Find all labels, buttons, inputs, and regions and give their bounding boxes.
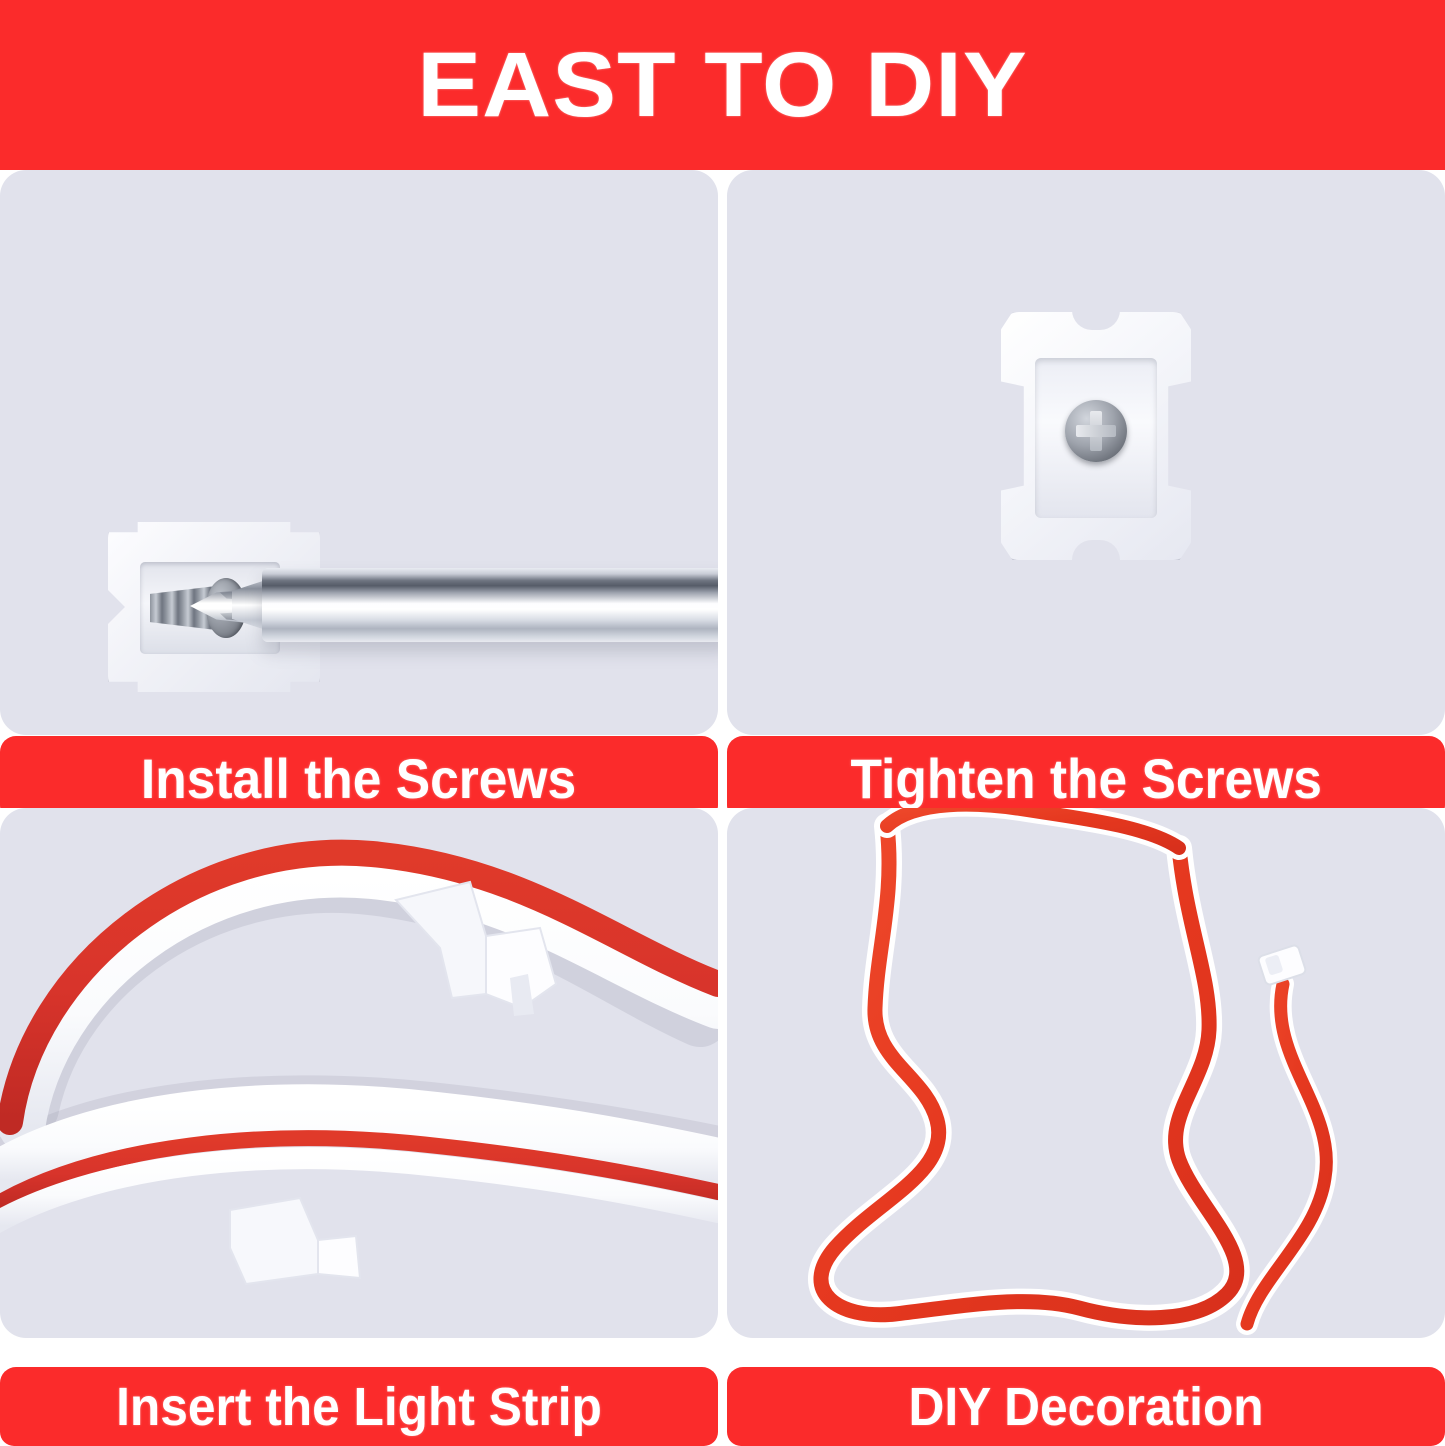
step-3-caption-label: Insert the Light Strip [116,1380,602,1434]
light-strip-loop-diagram [0,808,718,1338]
step-1-photo [0,170,718,735]
step-4-caption-label: DIY Decoration [908,1380,1263,1434]
step-2-caption-label: Tighten the Screws [850,751,1321,807]
step-4-caption-bar: DIY Decoration [727,1367,1445,1446]
step-card-3: Insert the Light Strip [0,808,718,1446]
step-card-1: Install the Screws [0,170,718,808]
step-3-caption-bar: Insert the Light Strip [0,1367,718,1446]
connector-icon [1257,944,1306,986]
step-4-photo [727,808,1445,1338]
steps-grid: Install the Screws Tighten the Screws [0,170,1445,1445]
step-3-photo [0,808,718,1338]
step-2-caption-bar: Tighten the Screws [727,736,1445,808]
strip-clip-2 [230,1198,360,1284]
step-card-2: Tighten the Screws [727,170,1445,808]
diy-shape-diagram [727,808,1445,1338]
screwdriver-shaft-icon [262,568,718,642]
page-title: EAST TO DIY [417,39,1027,131]
phillips-slot-horizontal [1076,425,1116,437]
step-1-caption-bar: Install the Screws [0,736,718,808]
step-card-4: DIY Decoration [727,808,1445,1446]
grid-gutter [718,170,727,1446]
infographic-page: EAST TO DIY [0,0,1445,1445]
screwdriver-scene [0,170,718,735]
step-2-photo [727,170,1445,735]
header-banner: EAST TO DIY [0,0,1445,170]
step-1-caption-label: Install the Screws [141,751,576,807]
